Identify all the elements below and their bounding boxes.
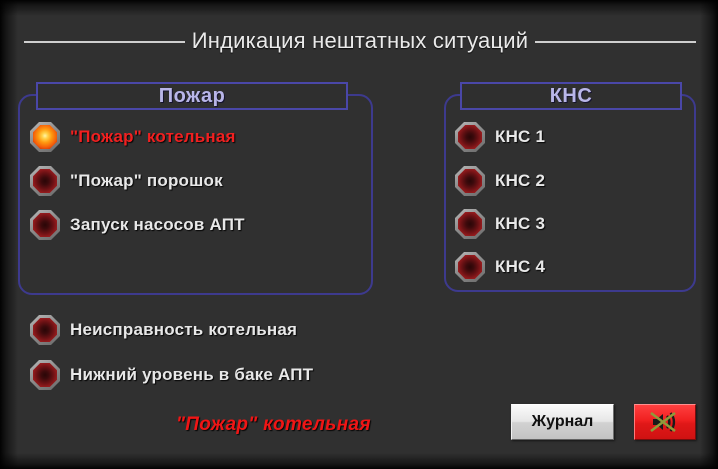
mute-alarm-button[interactable]	[634, 404, 696, 440]
led-indicator-icon	[30, 210, 60, 240]
indicator-row-misc-0[interactable]: Неисправность котельная	[30, 315, 297, 345]
active-alarm-text: "Пожар" котельная	[176, 410, 476, 440]
led-indicator-icon	[30, 166, 60, 196]
indicator-row-kns-1[interactable]: КНС 2	[455, 166, 545, 196]
indicator-row-misc-1[interactable]: Нижний уровень в баке АПТ	[30, 360, 313, 390]
log-button-label: Журнал	[532, 413, 594, 431]
title-rule-left	[24, 41, 185, 43]
indicator-row-kns-0[interactable]: КНС 1	[455, 122, 545, 152]
led-indicator-icon	[30, 360, 60, 390]
indicator-row-fire-1[interactable]: "Пожар" порошок	[30, 166, 223, 196]
led-indicator-icon	[455, 252, 485, 282]
page-title-row: Индикация нештатных ситуаций	[24, 26, 696, 56]
title-rule-right	[535, 41, 696, 43]
led-indicator-icon	[30, 315, 60, 345]
led-indicator-icon	[455, 209, 485, 239]
led-indicator-icon	[455, 166, 485, 196]
indicator-row-fire-2[interactable]: Запуск насосов АПТ	[30, 210, 245, 240]
indicator-row-kns-2[interactable]: КНС 3	[455, 209, 545, 239]
group-title-fire: Пожар	[36, 82, 348, 110]
indicator-label: КНС 1	[495, 127, 545, 147]
group-title-kns: КНС	[460, 82, 682, 110]
indicator-label: Нижний уровень в баке АПТ	[70, 365, 313, 385]
indicator-label: КНС 3	[495, 214, 545, 234]
led-indicator-icon	[455, 122, 485, 152]
indicator-label: Неисправность котельная	[70, 320, 297, 340]
indicator-row-kns-3[interactable]: КНС 4	[455, 252, 545, 282]
indicator-label: Запуск насосов АПТ	[70, 215, 245, 235]
alarm-indication-screen: Индикация нештатных ситуаций Пожар "Пожа…	[0, 0, 718, 469]
log-button[interactable]: Журнал	[511, 404, 614, 440]
page-title: Индикация нештатных ситуаций	[185, 28, 536, 54]
indicator-label: КНС 2	[495, 171, 545, 191]
indicator-label: КНС 4	[495, 257, 545, 277]
speaker-mute-icon	[645, 410, 685, 434]
indicator-row-fire-0[interactable]: "Пожар" котельная	[30, 122, 236, 152]
indicator-label: "Пожар" порошок	[70, 171, 223, 191]
led-indicator-icon	[30, 122, 60, 152]
indicator-label: "Пожар" котельная	[70, 127, 236, 147]
